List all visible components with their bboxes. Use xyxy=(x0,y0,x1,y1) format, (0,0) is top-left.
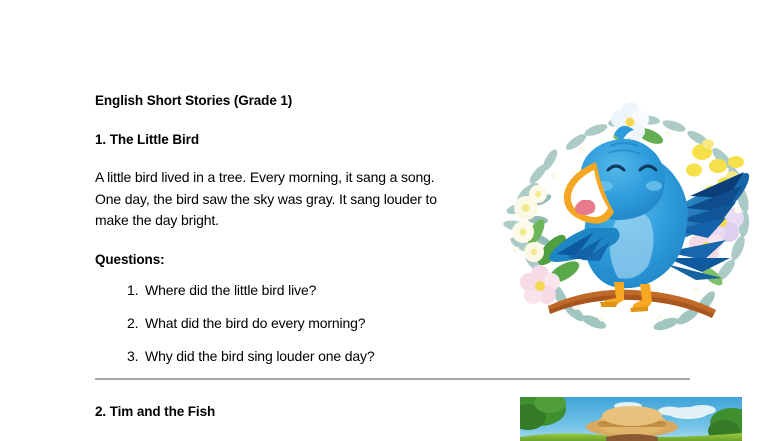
story-two-text-column: 2. Tim and the Fish Tim went to the rive… xyxy=(95,403,495,441)
page-title: English Short Stories (Grade 1) xyxy=(95,92,465,109)
story-two-body: Tim went to the river. He saw a small fi… xyxy=(95,436,495,441)
boy-in-straw-hat-photo xyxy=(520,397,742,441)
questions-list: 1. Where did the little bird live? 2. Wh… xyxy=(95,280,465,366)
question-number: 1. xyxy=(127,280,145,300)
list-item: 3. Why did the bird sing louder one day? xyxy=(95,346,465,366)
section-divider xyxy=(95,378,690,380)
questions-label: Questions: xyxy=(95,251,465,268)
question-number: 2. xyxy=(127,313,145,333)
question-text: Why did the bird sing louder one day? xyxy=(145,346,465,366)
story-one-heading: 1. The Little Bird xyxy=(95,131,465,148)
singing-bird-illustration xyxy=(490,100,775,345)
document-page: English Short Stories (Grade 1) 1. The L… xyxy=(0,0,784,441)
story-two-heading: 2. Tim and the Fish xyxy=(95,403,495,420)
question-text: What did the bird do every morning? xyxy=(145,313,465,333)
list-item: 1. Where did the little bird live? xyxy=(95,280,465,300)
question-text: Where did the little bird live? xyxy=(145,280,465,300)
list-item: 2. What did the bird do every morning? xyxy=(95,313,465,333)
story-one-body: A little bird lived in a tree. Every mor… xyxy=(95,167,461,232)
question-number: 3. xyxy=(127,346,145,366)
story-one-text-column: English Short Stories (Grade 1) 1. The L… xyxy=(95,92,465,379)
